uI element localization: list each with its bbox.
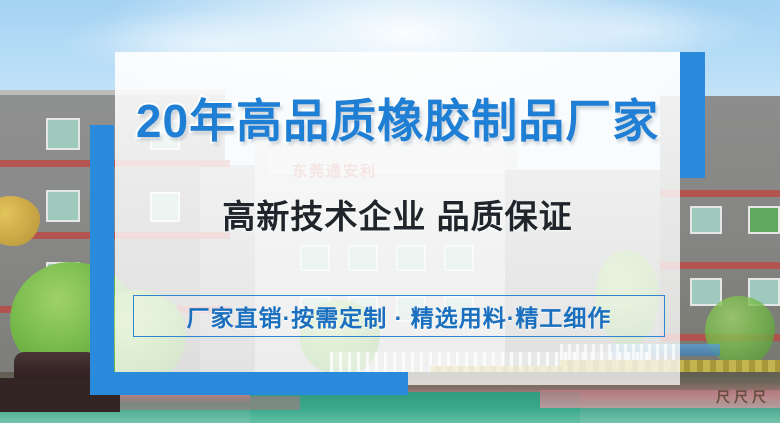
accent-bar-left	[90, 125, 114, 395]
accent-bar-right	[680, 52, 705, 178]
window	[748, 206, 780, 234]
window	[46, 190, 80, 222]
headline-text: 20年高品质橡胶制品厂家	[115, 98, 680, 144]
tagline-text: 厂家直销·按需定制 · 精选用料·精工细作	[187, 299, 612, 333]
window	[690, 278, 722, 306]
cloud-right	[500, 0, 760, 60]
tagline-box: 厂家直销·按需定制 · 精选用料·精工细作	[133, 295, 665, 337]
window	[690, 206, 722, 234]
window	[46, 118, 80, 150]
wall-text: 尺尺尺	[716, 387, 770, 407]
promo-banner: 东莞通安利 尺尺尺 20年高品质橡胶制品厂家 高新技术企业 品质保证 厂家直销·…	[0, 0, 780, 423]
banner-content: 20年高品质橡胶制品厂家 高新技术企业 品质保证 厂家直销·按需定制 · 精选用…	[115, 52, 680, 385]
subheadline-text: 高新技术企业 品质保证	[115, 200, 680, 233]
courtyard-pink-strip	[120, 396, 300, 410]
